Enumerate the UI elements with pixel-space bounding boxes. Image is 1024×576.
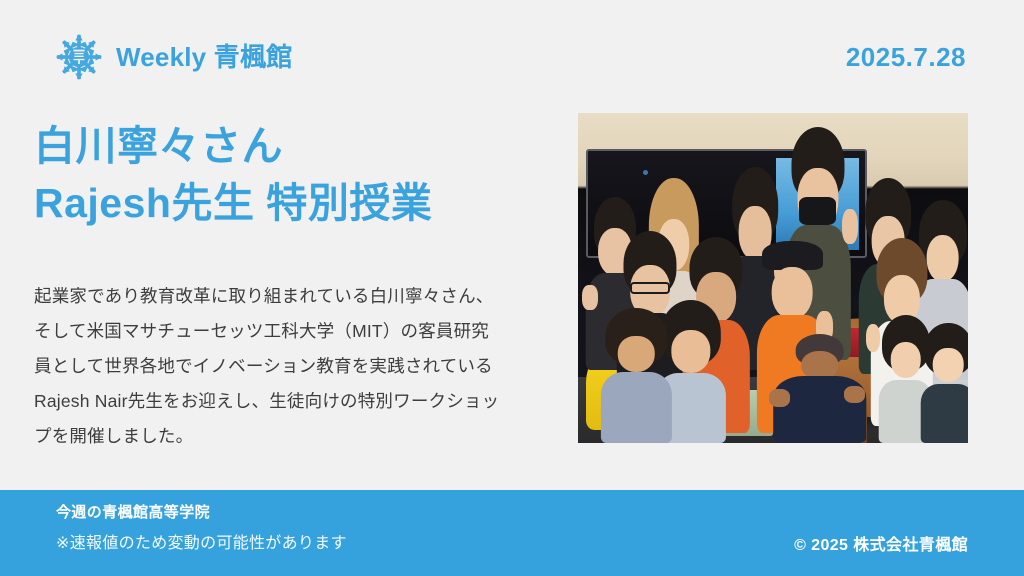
person-instructor-rajesh [773,347,867,443]
person-body [921,384,968,443]
slide-root: Weekly 青楓館 2025.7.28 白川寧々さん Rajesh先生 特別授… [0,0,1024,576]
content-left-column: 白川寧々さん Rajesh先生 特別授業 起業家であり教育改革に取り組まれている… [34,118,534,454]
headline-line-2: Rajesh先生 特別授業 [34,175,534,232]
seifukan-snowflake-crest-icon [56,34,102,80]
brand-title: Weekly 青楓館 [116,44,292,70]
person-hand [844,386,865,403]
brand-lockup: Weekly 青楓館 [56,34,292,80]
person-table-right [921,337,968,443]
person-hand [582,285,597,309]
person-seated-left [601,324,671,443]
monitor-indicator [643,170,648,175]
slide-header: Weekly 青楓館 2025.7.28 [0,0,1024,112]
group-photo [578,113,968,443]
footer-note: ※速報値のため変動の可能性があります [56,536,347,552]
page-title: 白川寧々さん Rajesh先生 特別授業 [34,118,534,231]
slide-footer: 今週の青楓館高等学院 ※速報値のため変動の可能性があります © 2025 株式会… [0,490,1024,576]
person-head [933,348,964,382]
person-hand [769,389,790,406]
person-hand [842,209,858,244]
photo-scene [578,113,968,443]
eyeglasses-icon [630,282,670,294]
footer-kicker: 今週の青楓館高等学院 [56,505,347,520]
face-mask-icon [799,197,836,226]
person-head [772,267,813,319]
footer-left-block: 今週の青楓館高等学院 ※速報値のため変動の可能性があります [56,505,347,552]
person-body [601,372,671,443]
footer-copyright: © 2025 株式会社青楓館 [794,538,968,554]
person-head [618,336,654,372]
headline-line-1: 白川寧々さん [34,118,534,175]
person-head [890,342,921,378]
issue-date: 2025.7.28 [846,44,966,70]
person-head [671,330,710,373]
body-paragraph: 起業家であり教育改革に取り組まれている白川寧々さん、そして米国マサチューセッツ工… [34,279,504,454]
